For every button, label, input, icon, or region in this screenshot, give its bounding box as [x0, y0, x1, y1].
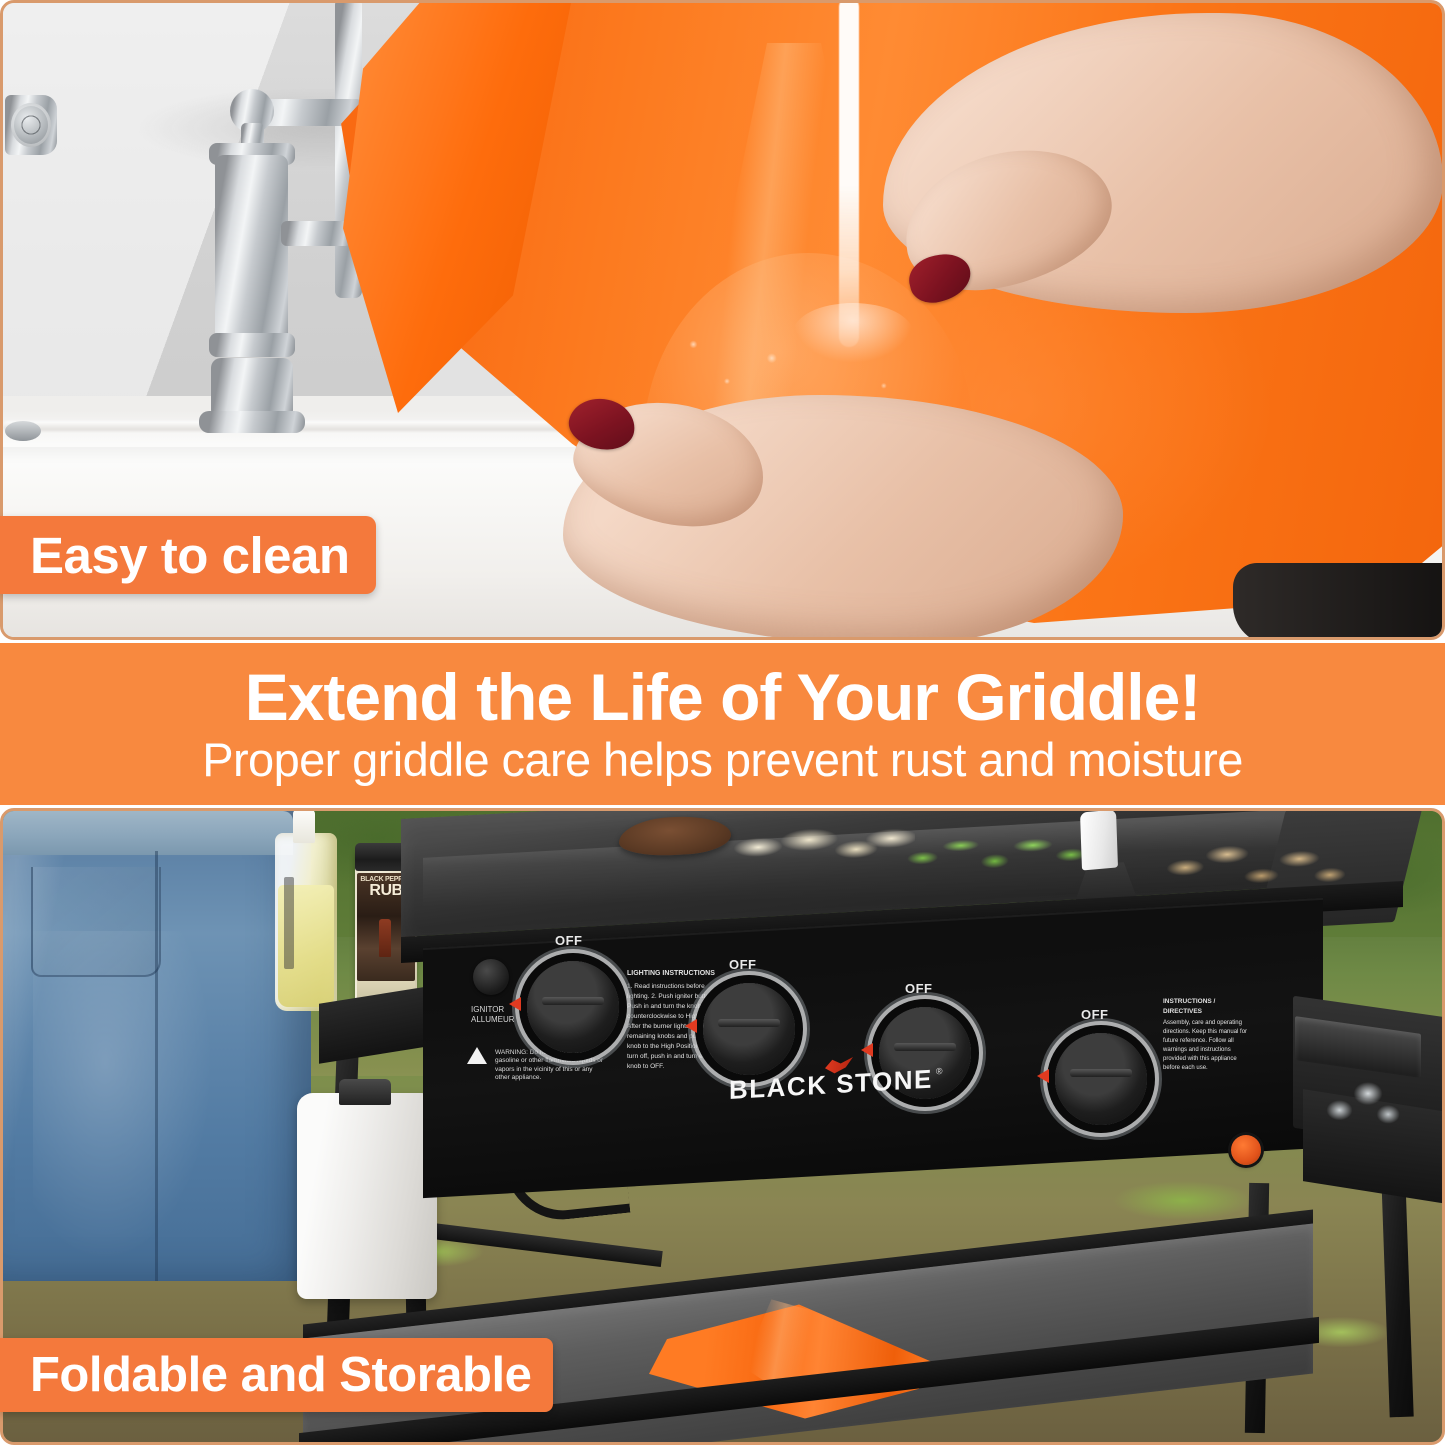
wrist-shadow [1233, 563, 1445, 640]
ignitor-button[interactable] [1231, 1135, 1261, 1165]
side-instructions-title: INSTRUCTIONS / DIRECTIVES [1163, 997, 1255, 1017]
badge-easy-to-clean: Easy to clean [0, 516, 376, 594]
burner-knob-1[interactable] [527, 961, 619, 1053]
burner-knob-2-indicator-icon [685, 1019, 697, 1033]
burner-knob-1-label: OFF [555, 933, 583, 948]
jeans-waistband [0, 811, 293, 855]
burner-knob-3-indicator-icon [861, 1043, 873, 1057]
blackstone-trademark: ® [936, 1066, 943, 1076]
water-splash [793, 303, 913, 363]
side-instructions-body: Assembly, care and operating directions.… [1163, 1020, 1247, 1071]
lighting-instructions-title: LIGHTING INSTRUCTIONS [627, 969, 723, 980]
badge-easy-to-clean-label: Easy to clean [30, 526, 350, 585]
burner-knob-4[interactable] [1055, 1033, 1147, 1125]
burner-knob-4-label: OFF [1081, 1007, 1109, 1022]
faucet-foot [199, 411, 305, 433]
burner-knob-2[interactable] [703, 983, 795, 1075]
badge-foldable-label: Foldable and Storable [30, 1347, 531, 1403]
griddle-spatula-handle [1080, 809, 1118, 870]
food-green-peppers [893, 819, 1105, 888]
side-instructions-panel: INSTRUCTIONS / DIRECTIVES Assembly, care… [1163, 997, 1255, 1073]
jeans-seam [155, 851, 158, 1281]
banner-subline: Proper griddle care helps prevent rust a… [202, 735, 1243, 784]
ignitor-knob[interactable] [473, 959, 509, 995]
faucet-lower-collar [209, 333, 295, 357]
center-banner: Extend the Life of Your Griddle! Proper … [0, 643, 1445, 805]
oil-bottle-neck [293, 809, 315, 843]
stones [1321, 1079, 1405, 1131]
drain-cap [5, 421, 41, 441]
burner-knob-2-label: OFF [729, 957, 757, 972]
running-water-stream [839, 0, 859, 347]
burner-knob-1-indicator-icon [509, 997, 521, 1011]
pepper-grinder-graphic [379, 919, 391, 957]
propane-tank [297, 1093, 437, 1299]
oil-bottle-label [284, 877, 294, 969]
jeans-pocket [31, 867, 161, 977]
warning-triangle-icon [467, 1047, 487, 1064]
burner-knob-3-label: OFF [905, 981, 933, 996]
food-grilled-onions [719, 820, 915, 878]
jeans-fade [33, 931, 213, 1261]
sprayer-face-icon [11, 103, 51, 147]
faucet-body [215, 155, 288, 355]
propane-valve [339, 1079, 391, 1105]
product-infographic: Easy to clean Extend the Life of Your Gr… [0, 0, 1445, 1445]
warning-text: WARNING: Do not store or use gasoline or… [495, 1049, 607, 1083]
spice-label-main-text: RUB [369, 883, 402, 899]
burner-knob-4-indicator-icon [1037, 1069, 1049, 1083]
badge-foldable-and-storable: Foldable and Storable [0, 1338, 553, 1412]
banner-headline: Extend the Life of Your Griddle! [245, 664, 1201, 731]
faucet-side-spur [281, 221, 351, 246]
